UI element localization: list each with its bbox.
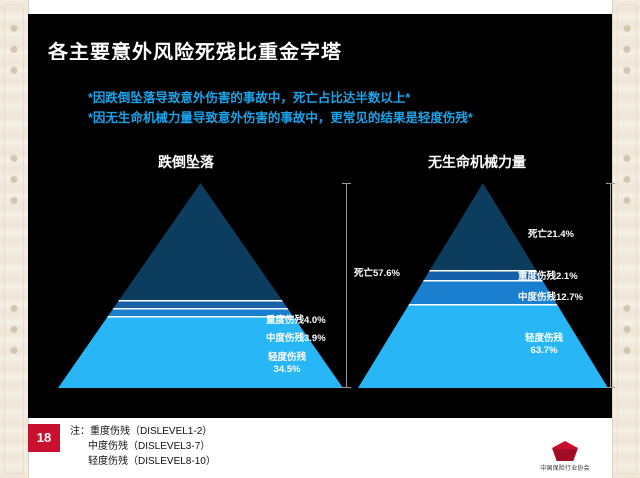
footnote: 注：重度伤残（DISLEVEL1-2） 中度伤残（DISLEVEL3-7） 轻度…	[70, 424, 216, 469]
label-right-mild-line1: 轻度伤残	[525, 333, 563, 345]
ornament-icon	[4, 20, 24, 90]
ornament-icon	[617, 300, 637, 370]
ornament-icon	[4, 150, 24, 220]
decorative-left-border	[0, 0, 29, 478]
organization-logo: 中国保险行业协会	[528, 441, 602, 472]
bullet-list: *因跌倒坠落导致意外伤害的事故中，死亡占比达半数以上* *因无生命机械力量导致意…	[88, 88, 558, 128]
logo-text: 中国保险行业协会	[528, 463, 602, 472]
slide-root: 各主要意外风险死残比重金字塔 *因跌倒坠落导致意外伤害的事故中，死亡占比达半数以…	[0, 0, 640, 478]
label-right-moderate: 中度伤残12.7%	[518, 292, 583, 304]
label-left-severe: 重度伤残4.0%	[266, 315, 326, 327]
ornament-icon	[617, 20, 637, 90]
label-right-death: 死亡21.4%	[528, 229, 574, 241]
footnote-line-3: 轻度伤残（DISLEVEL8-10）	[70, 454, 216, 469]
label-right-severe: 重度伤残2.1%	[518, 271, 578, 283]
label-right-mild-line2: 63.7%	[525, 345, 563, 357]
footnote-line-2: 中度伤残（DISLEVEL3-7）	[70, 439, 216, 454]
bullet-item-1: *因跌倒坠落导致意外伤害的事故中，死亡占比达半数以上*	[88, 88, 558, 108]
logo-mark-icon	[552, 441, 578, 461]
segment-death	[358, 183, 608, 271]
label-left-mild-line1: 轻度伤残	[268, 352, 306, 364]
footnote-line-1: 注：重度伤残（DISLEVEL1-2）	[70, 424, 216, 439]
segment-mild	[358, 305, 608, 388]
page-number-badge: 18	[28, 424, 60, 452]
ornament-icon	[4, 300, 24, 370]
chart-title-right: 无生命机械力量	[428, 152, 526, 172]
ornament-icon	[617, 150, 637, 220]
segment-death	[58, 183, 343, 301]
label-left-mild-line2: 34.5%	[268, 364, 306, 376]
label-left-mild: 轻度伤残 34.5%	[268, 352, 306, 376]
slide-content: 各主要意外风险死残比重金字塔 *因跌倒坠落导致意外伤害的事故中，死亡占比达半数以…	[28, 0, 612, 478]
chart-title-left: 跌倒坠落	[158, 152, 214, 172]
decorative-right-border	[612, 0, 640, 478]
label-right-mild: 轻度伤残 63.7%	[525, 333, 563, 357]
title-band: 各主要意外风险死残比重金字塔	[28, 14, 612, 60]
bullet-item-2: *因无生命机械力量导致意外伤害的事故中，更常见的结果是轻度伤残*	[88, 108, 558, 128]
label-left-moderate: 中度伤残3.9%	[266, 333, 326, 345]
pyramid-right-svg	[358, 183, 608, 388]
segment-severe	[58, 301, 343, 309]
pyramid-chart-right	[358, 183, 608, 388]
